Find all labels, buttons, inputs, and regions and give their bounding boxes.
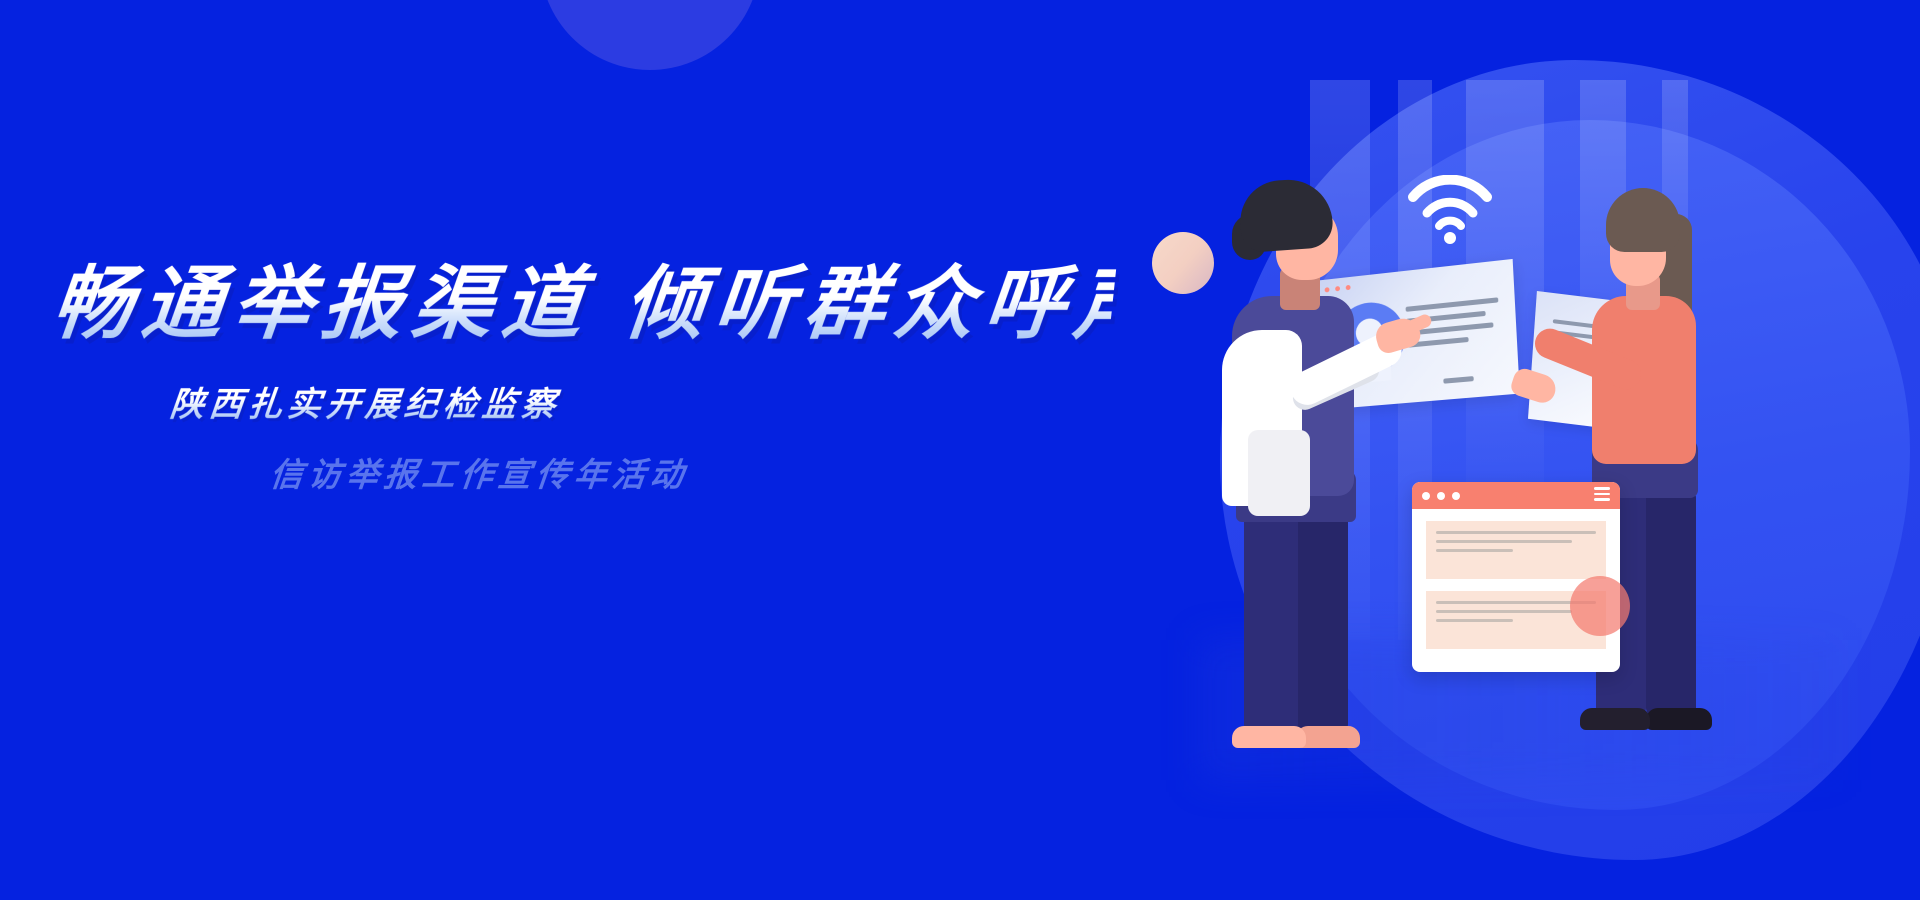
headline-block: 畅通举报渠道 倾听群众呼声 陕西扎实开展纪检监察 信访举报工作宣传年活动 (48, 262, 1108, 496)
text-line-short (1443, 376, 1474, 384)
page-title: 畅通举报渠道 倾听群众呼声 (48, 262, 1117, 347)
window-dot (1422, 492, 1430, 500)
document-block (1426, 521, 1606, 579)
illustration: + + + (1140, 0, 1920, 900)
wifi-icon (1405, 175, 1495, 245)
shoe-front (1580, 708, 1650, 730)
window-dots (1325, 285, 1351, 293)
window-dot (1437, 492, 1445, 500)
hair (1606, 188, 1680, 252)
window-dot (1452, 492, 1460, 500)
subtitle-line-2: 信访举报工作宣传年活动 (268, 448, 1113, 496)
leg-back (1646, 490, 1696, 716)
decorative-circle-top (540, 0, 760, 70)
cursor-highlight-circle (1570, 576, 1630, 636)
campaign-banner: 畅通举报渠道 倾听群众呼声 陕西扎实开展纪检监察 信访举报工作宣传年活动 + + (0, 0, 1920, 900)
shoe-back (1646, 708, 1712, 730)
leg-back (1296, 512, 1348, 734)
browser-titlebar (1412, 482, 1620, 509)
subtitle-line-1: 陕西扎实开展纪检监察 (168, 377, 1113, 426)
leg-front (1244, 512, 1298, 734)
shirt-shade (1248, 430, 1310, 516)
hair (1238, 177, 1335, 253)
shoe-front (1232, 726, 1306, 748)
hamburger-menu-icon (1594, 487, 1610, 504)
